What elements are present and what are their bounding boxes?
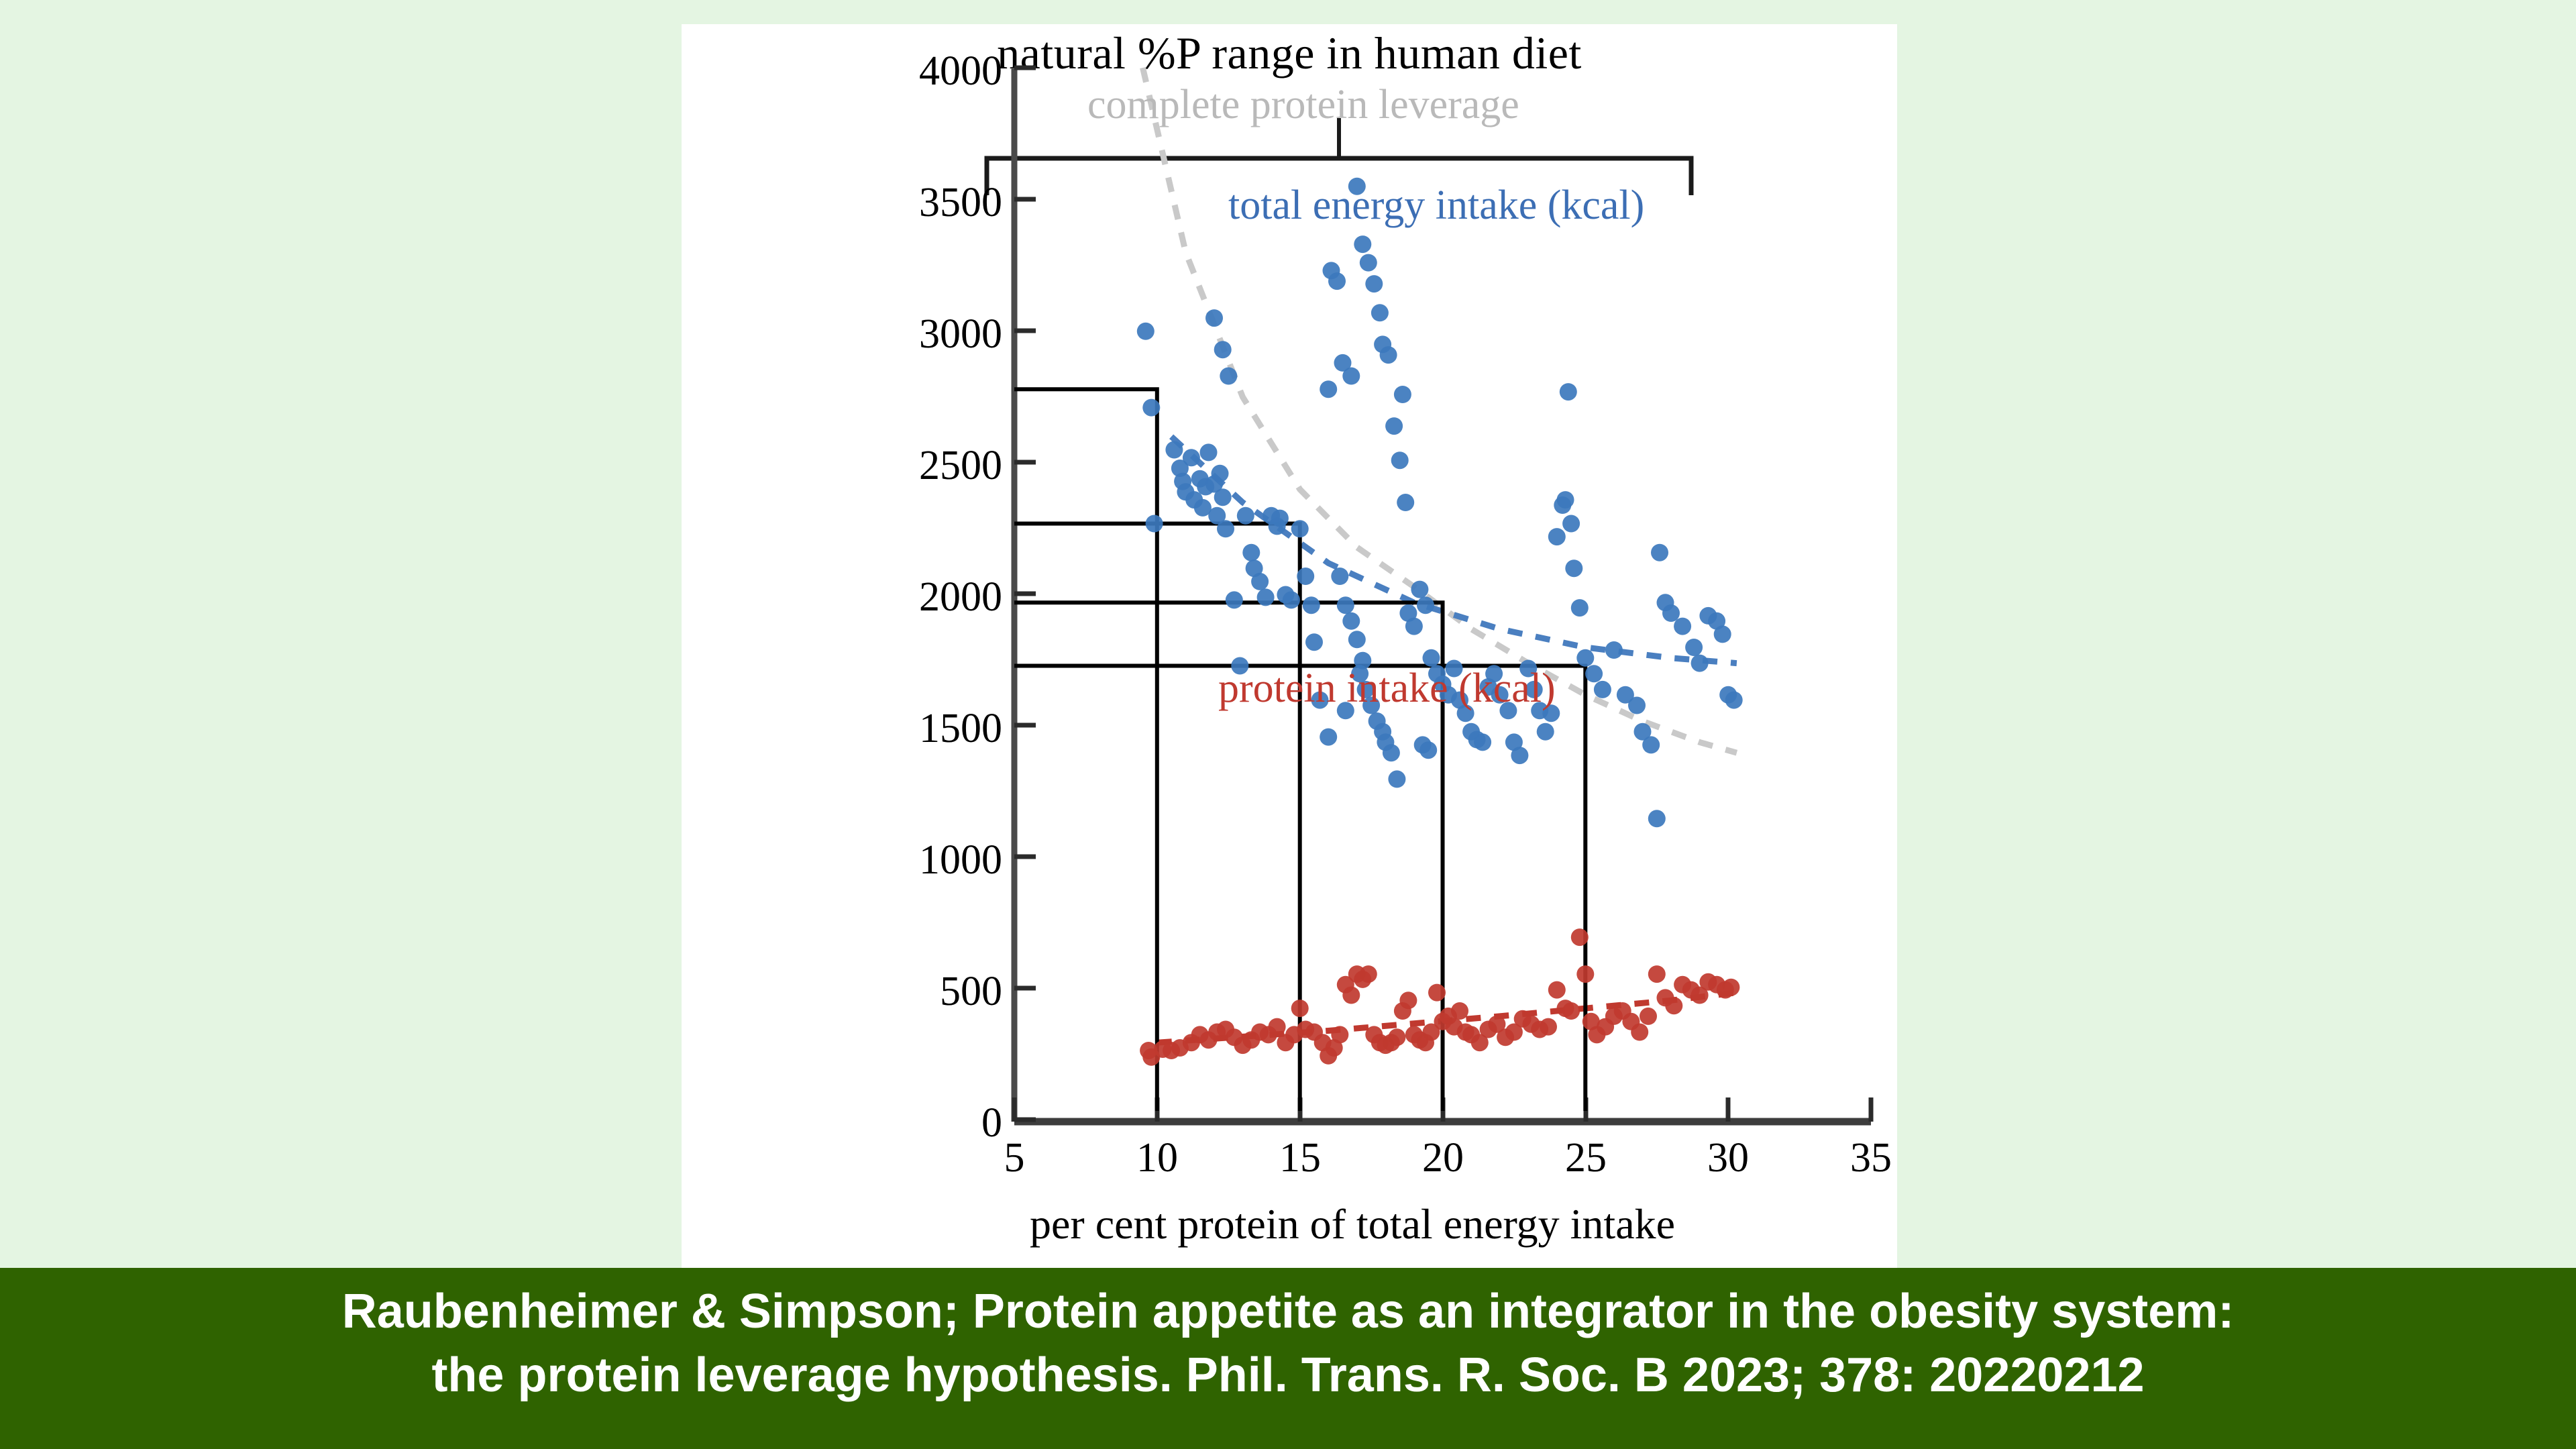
data-point	[1562, 1002, 1580, 1020]
data-point	[1685, 639, 1703, 656]
data-point	[1411, 581, 1428, 598]
x-axis-title: per cent protein of total energy intake	[1030, 1200, 1675, 1248]
data-point	[1200, 443, 1218, 461]
data-point	[1205, 309, 1223, 327]
data-point	[1242, 544, 1260, 561]
data-point	[1220, 368, 1237, 385]
data-point	[1342, 368, 1360, 385]
data-point	[1648, 965, 1666, 983]
data-point	[1576, 965, 1594, 983]
data-point	[1394, 386, 1411, 403]
data-point	[1722, 979, 1739, 996]
y-axis-tick-labels: 4000 3500 3000 2500 2000 1500 1000 500 0	[919, 48, 1002, 1146]
data-point	[1283, 591, 1300, 608]
data-point	[1383, 744, 1400, 761]
data-point	[1305, 633, 1323, 651]
data-point	[1303, 596, 1320, 614]
data-point	[1271, 510, 1289, 527]
data-point	[1391, 451, 1409, 469]
data-point	[1371, 304, 1389, 321]
data-point	[1631, 1024, 1648, 1041]
data-point	[1146, 515, 1163, 533]
data-point	[1354, 235, 1371, 253]
data-point	[1291, 520, 1309, 537]
data-point	[1451, 1002, 1468, 1020]
x-tick-label: 30	[1707, 1135, 1749, 1181]
data-point	[1342, 987, 1360, 1004]
data-point	[1342, 612, 1360, 630]
data-point	[1423, 649, 1440, 667]
data-point	[1214, 341, 1232, 358]
data-point	[1251, 573, 1269, 590]
y-tick-label: 500	[940, 969, 1002, 1014]
data-point	[1576, 649, 1594, 667]
data-point	[1405, 618, 1423, 635]
x-tick-label: 35	[1850, 1135, 1892, 1181]
source-caption: Raubenheimer & Simpson; Protein appetite…	[0, 1268, 2576, 1449]
data-point	[1348, 631, 1366, 648]
data-point	[1605, 641, 1623, 659]
y-tick-label: 2000	[919, 574, 1002, 620]
data-point	[1674, 618, 1691, 635]
data-point	[1257, 588, 1275, 606]
data-point	[1337, 596, 1354, 614]
data-point	[1628, 697, 1646, 714]
scatter-points-layer	[1137, 178, 1743, 1066]
data-point	[1217, 520, 1234, 537]
data-point	[1183, 449, 1200, 466]
data-point	[1585, 665, 1603, 682]
data-point	[1691, 655, 1709, 672]
y-tick-label: 2500	[919, 443, 1002, 488]
data-point	[1560, 383, 1577, 400]
y-tick-label: 1000	[919, 837, 1002, 883]
y-tick-label: 1500	[919, 706, 1002, 751]
data-point	[1269, 1018, 1286, 1036]
data-point	[1594, 681, 1611, 698]
x-axis-tick-labels: 5 10 15 20 25 30 35	[1004, 1135, 1892, 1181]
data-point	[1511, 747, 1528, 764]
data-point	[1331, 568, 1348, 585]
data-point	[1399, 991, 1417, 1009]
y-tick-label: 4000	[919, 48, 1002, 94]
data-point	[1165, 441, 1183, 459]
data-point	[1137, 323, 1155, 340]
data-point	[1419, 741, 1437, 759]
slide-root: natural %P range in human diet	[0, 0, 2576, 1449]
data-point	[1385, 417, 1403, 435]
x-tick-label: 5	[1004, 1135, 1025, 1181]
data-point	[1331, 1026, 1348, 1043]
total-energy-series-label: total energy intake (kcal)	[1228, 182, 1644, 228]
scatter-plot: 4000 3500 3000 2500 2000 1500 1000 500 0…	[682, 24, 1897, 1269]
data-point	[1417, 596, 1434, 614]
data-point	[1714, 625, 1731, 643]
data-point	[1226, 591, 1243, 608]
data-point	[1537, 723, 1554, 741]
data-point	[1662, 604, 1680, 622]
series-protein	[1140, 928, 1739, 1066]
data-point	[1640, 1008, 1657, 1025]
data-point	[1291, 1000, 1309, 1017]
data-point	[1328, 272, 1346, 290]
data-point	[1540, 1018, 1557, 1036]
caption-line-1: Raubenheimer & Simpson; Protein appetite…	[0, 1280, 2576, 1344]
data-point	[1548, 981, 1566, 999]
x-tick-label: 15	[1279, 1135, 1321, 1181]
data-point	[1388, 770, 1405, 788]
x-tick-label: 10	[1136, 1135, 1178, 1181]
protein-intake-series-label: protein intake (kcal)	[1218, 665, 1556, 711]
y-tick-label: 3500	[919, 180, 1002, 225]
data-point	[1320, 380, 1337, 398]
data-point	[1360, 254, 1377, 272]
data-point	[1397, 494, 1414, 511]
data-point	[1214, 488, 1232, 506]
y-tick-label: 0	[981, 1100, 1002, 1146]
data-point	[1548, 528, 1566, 545]
x-tick-label: 20	[1422, 1135, 1464, 1181]
x-tick-label: 25	[1565, 1135, 1607, 1181]
data-point	[1474, 733, 1491, 751]
data-point	[1651, 544, 1668, 561]
data-point	[1648, 810, 1666, 827]
data-point	[1562, 515, 1580, 533]
data-point	[1665, 997, 1682, 1014]
data-point	[1237, 507, 1254, 525]
data-point	[1360, 965, 1377, 983]
data-point	[1142, 399, 1160, 417]
data-point	[1388, 1028, 1405, 1046]
data-point	[1571, 928, 1589, 946]
step-line	[1014, 389, 1157, 1122]
data-point	[1642, 736, 1660, 753]
data-point	[1380, 346, 1397, 364]
y-tick-label: 3000	[919, 311, 1002, 357]
data-point	[1565, 559, 1582, 577]
data-point	[1725, 692, 1743, 709]
data-point	[1428, 984, 1446, 1002]
data-point	[1571, 599, 1589, 616]
caption-line-2: the protein leverage hypothesis. Phil. T…	[0, 1344, 2576, 1407]
complete-protein-leverage-label: complete protein leverage	[1087, 82, 1519, 127]
data-point	[1365, 275, 1383, 292]
series-total-energy	[1137, 178, 1743, 828]
data-point	[1297, 568, 1314, 585]
data-point	[1320, 729, 1337, 746]
trend-line	[1143, 68, 1737, 753]
data-point	[1212, 465, 1229, 482]
data-point	[1557, 491, 1574, 508]
